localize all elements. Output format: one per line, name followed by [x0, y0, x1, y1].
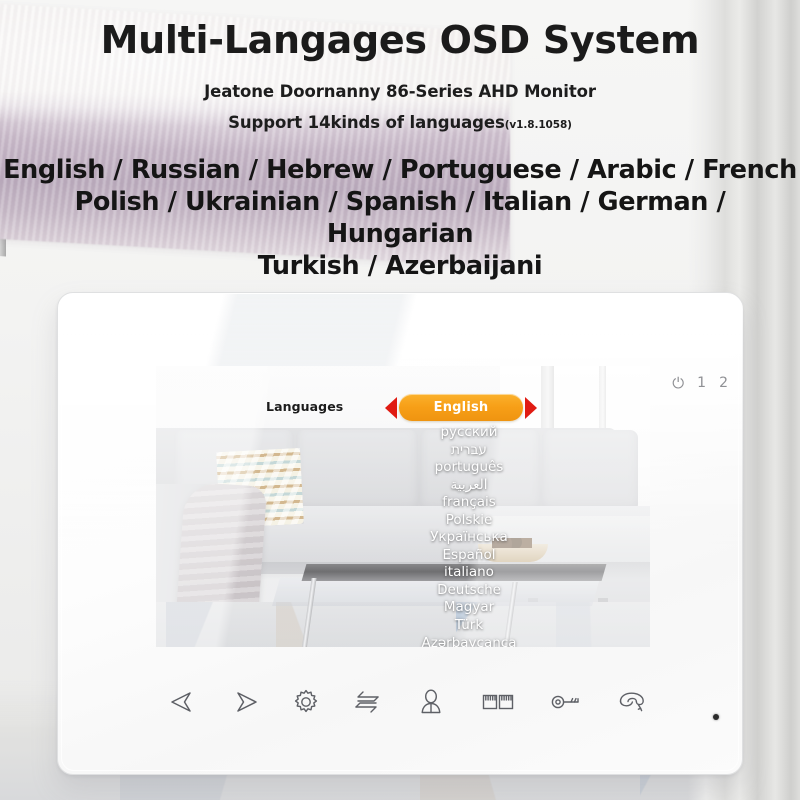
arrow-left-outline-icon — [167, 689, 197, 715]
list-item[interactable]: русский — [440, 424, 497, 442]
support-line: Support 14kinds of languages(v1.8.1058) — [0, 113, 800, 132]
person-icon — [418, 688, 444, 716]
language-line-1: English / Russian / Hebrew / Portuguese … — [0, 154, 800, 186]
arrow-right-icon[interactable] — [525, 397, 537, 419]
arrow-right-outline-icon — [231, 689, 261, 715]
ahd-monitor-device: ⏻ 1 2 — [57, 292, 743, 775]
microphone-hole-icon — [713, 714, 719, 720]
version-text: (v1.8.1058) — [505, 119, 572, 131]
list-item[interactable]: italiano — [444, 564, 494, 582]
osd-menu-label: Languages — [266, 399, 343, 414]
list-item[interactable]: português — [435, 459, 504, 477]
language-line-2: Polish / Ukrainian / Spanish / Italian /… — [0, 186, 800, 250]
contacts-button[interactable] — [410, 681, 452, 723]
arrow-left-icon[interactable] — [385, 397, 397, 419]
support-text: Support 14kinds of languages — [228, 113, 505, 132]
list-item[interactable]: Magyar — [444, 599, 494, 617]
transfer-button[interactable] — [346, 681, 388, 723]
power-icon: ⏻ — [672, 376, 684, 391]
list-item[interactable]: Українська — [430, 529, 508, 547]
previous-button[interactable] — [161, 681, 203, 723]
list-item[interactable]: עברית — [451, 442, 487, 460]
screenshot-root: Multi-Langages OSD System Jeatone Doorna… — [0, 0, 800, 800]
indicator-2: 2 — [719, 375, 728, 391]
list-item[interactable]: Türk — [455, 617, 483, 635]
selected-language-pill[interactable]: English — [399, 394, 523, 421]
product-subtitle: Jeatone Doornanny 86-Series AHD Monitor — [0, 82, 800, 101]
language-selector[interactable]: English — [385, 394, 537, 421]
language-line-3: Turkish / Azerbaijani — [0, 250, 800, 282]
settings-button[interactable] — [285, 681, 327, 723]
list-item[interactable]: Español — [443, 547, 496, 565]
monitor-screen[interactable]: Languages English русский עברית portuguê… — [156, 366, 650, 647]
list-item[interactable]: Polskie — [446, 512, 493, 530]
split-view-button[interactable] — [477, 681, 519, 723]
indicator-1: 1 — [697, 375, 706, 391]
transfer-arrows-icon — [351, 689, 383, 715]
unlock-button[interactable] — [545, 681, 587, 723]
osd-language-menu: Languages English русский עברית portuguê… — [156, 366, 650, 647]
gear-icon — [292, 688, 320, 716]
handset-icon — [617, 690, 647, 714]
key-icon — [550, 691, 582, 713]
split-screen-icon — [482, 691, 514, 713]
touch-button-bar — [58, 681, 744, 737]
list-item[interactable]: Deutsche — [437, 582, 501, 600]
status-indicators: ⏻ 1 2 — [672, 375, 728, 391]
list-item[interactable]: français — [442, 494, 496, 512]
language-option-list[interactable]: русский עברית português العربية français… — [404, 424, 534, 647]
list-item[interactable]: العربية — [451, 477, 488, 495]
next-button[interactable] — [225, 681, 267, 723]
call-button[interactable] — [611, 681, 653, 723]
list-item[interactable]: Azərbaycanca — [422, 635, 517, 647]
page-title: Multi-Langages OSD System — [0, 20, 800, 62]
promo-header: Multi-Langages OSD System Jeatone Doorna… — [0, 0, 800, 282]
